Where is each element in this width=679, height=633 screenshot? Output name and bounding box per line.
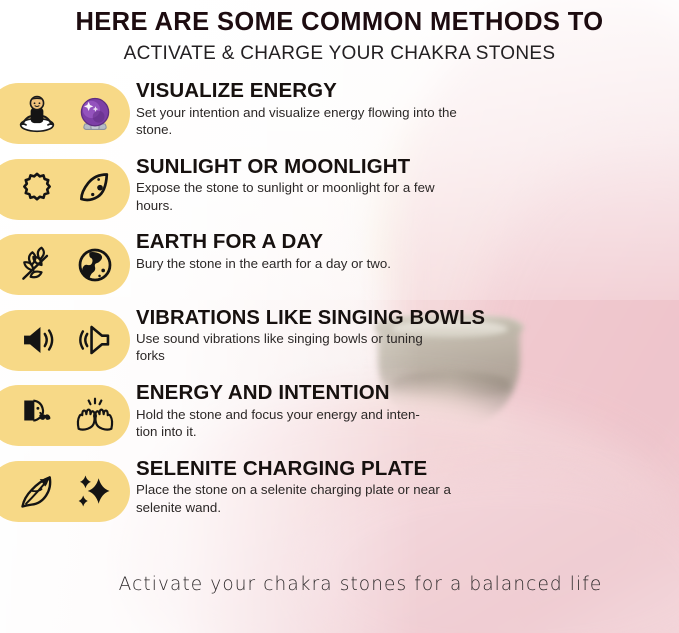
speaker-sound-icon — [15, 318, 59, 362]
sun-icon — [15, 167, 59, 211]
method-text: VIBRATIONS LIKE SINGING BOWLS Use sound … — [136, 307, 546, 365]
method-title: SUNLIGHT OR MOONLIGHT — [136, 156, 546, 179]
method-icon-pill — [0, 310, 130, 371]
leaf-branch-icon — [15, 243, 59, 287]
method-description: Bury the stone in the earth for a day or… — [136, 255, 466, 272]
meditating-person-icon — [15, 92, 59, 136]
infographic-poster: HERE ARE SOME COMMON METHODS TO ACTIVATE… — [0, 0, 679, 633]
list-item: SUNLIGHT OR MOONLIGHT Expose the stone t… — [0, 154, 679, 230]
kissing-face-icon — [15, 394, 59, 438]
sparkles-icon — [73, 469, 117, 513]
method-title: EARTH FOR A DAY — [136, 231, 546, 254]
method-title: ENERGY AND INTENTION — [136, 382, 546, 405]
crystal-ball-icon — [73, 92, 117, 136]
page-subtitle: ACTIVATE & CHARGE YOUR CHAKRA STONES — [0, 43, 679, 65]
method-description: Set your intention and visualize energy … — [136, 104, 466, 139]
method-text: ENERGY AND INTENTION Hold the stone and … — [136, 382, 546, 441]
method-text: SELENITE CHARGING PLATE Place the stone … — [136, 458, 546, 517]
method-title: VIBRATIONS LIKE SINGING BOWLS — [136, 307, 546, 330]
list-item: EARTH FOR A DAY Bury the stone in the ea… — [0, 229, 679, 305]
method-icon-pill — [0, 385, 130, 446]
method-icon-pill — [0, 83, 130, 144]
method-icon-pill — [0, 234, 130, 295]
footer-tagline: Activate your chakra stones for a balanc… — [0, 574, 679, 595]
method-text: EARTH FOR A DAY Bury the stone in the ea… — [136, 231, 546, 272]
raising-hands-icon — [73, 394, 117, 438]
method-icon-pill — [0, 461, 130, 522]
method-text: SUNLIGHT OR MOONLIGHT Expose the stone t… — [136, 156, 546, 215]
method-description: Place the stone on a selenite charging p… — [136, 481, 466, 516]
list-item: VISUALIZE ENERGY Set your intention and … — [0, 78, 679, 154]
method-icon-pill — [0, 159, 130, 220]
method-title: SELENITE CHARGING PLATE — [136, 458, 546, 481]
method-description: Expose the stone to sunlight or moonligh… — [136, 179, 466, 214]
poster-content: HERE ARE SOME COMMON METHODS TO ACTIVATE… — [0, 0, 679, 633]
feather-quill-icon — [15, 469, 59, 513]
speaker-vibration-icon — [73, 318, 117, 362]
page-title: HERE ARE SOME COMMON METHODS TO — [0, 8, 679, 38]
list-item: VIBRATIONS LIKE SINGING BOWLS Use sound … — [0, 305, 679, 381]
globe-earth-icon — [73, 243, 117, 287]
method-title: VISUALIZE ENERGY — [136, 80, 546, 103]
methods-list: VISUALIZE ENERGY Set your intention and … — [0, 78, 679, 531]
method-description: Use sound vibrations like singing bowls … — [136, 330, 448, 365]
list-item: ENERGY AND INTENTION Hold the stone and … — [0, 380, 679, 456]
poster-header: HERE ARE SOME COMMON METHODS TO ACTIVATE… — [0, 0, 679, 64]
list-item: SELENITE CHARGING PLATE Place the stone … — [0, 456, 679, 532]
crescent-moon-icon — [73, 167, 117, 211]
method-text: VISUALIZE ENERGY Set your intention and … — [136, 80, 546, 139]
method-description: Hold the stone and focus your energy and… — [136, 406, 436, 441]
